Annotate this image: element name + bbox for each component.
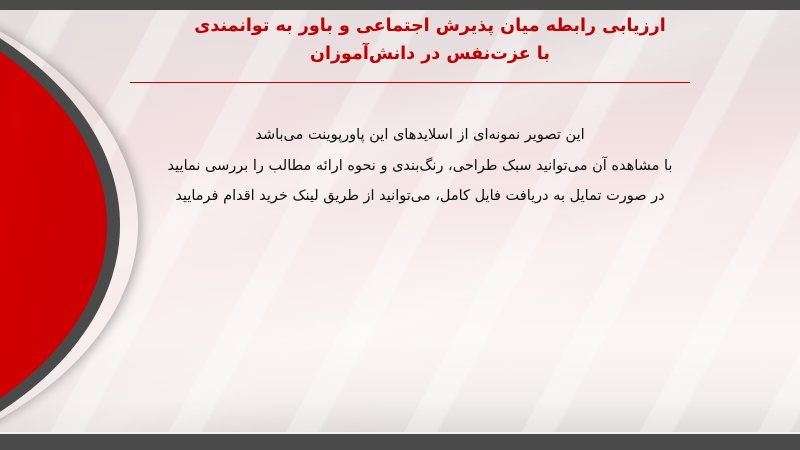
slide-body-line-3: در صورت تمایل به دریافت فایل کامل، می‌تو… [40,181,800,212]
slide-title: ارزیابی رابطه میان پذیرش اجتماعی و باور … [60,12,800,69]
slide-frame-bottom-highlight [0,432,800,434]
slide-body-text: این تصویر نمونه‌ای از اسلایدهای این پاور… [40,120,800,212]
slide-frame-bottom-band [0,434,800,450]
slide-body-line-2: با مشاهده آن می‌توانید سبک طراحی، رنگ‌بن… [40,151,800,182]
slide-frame-top-band [0,0,800,10]
slide-title-line-1: ارزیابی رابطه میان پذیرش اجتماعی و باور … [60,12,800,40]
slide-body-line-1: این تصویر نمونه‌ای از اسلایدهای این پاور… [40,120,800,151]
slide-content: ارزیابی رابطه میان پذیرش اجتماعی و باور … [0,10,800,434]
slide-title-underline-rule [130,82,690,83]
presentation-slide: ارزیابی رابطه میان پذیرش اجتماعی و باور … [0,0,800,450]
slide-title-line-2: با عزت‌نفس در دانش‌آموزان [60,40,800,68]
